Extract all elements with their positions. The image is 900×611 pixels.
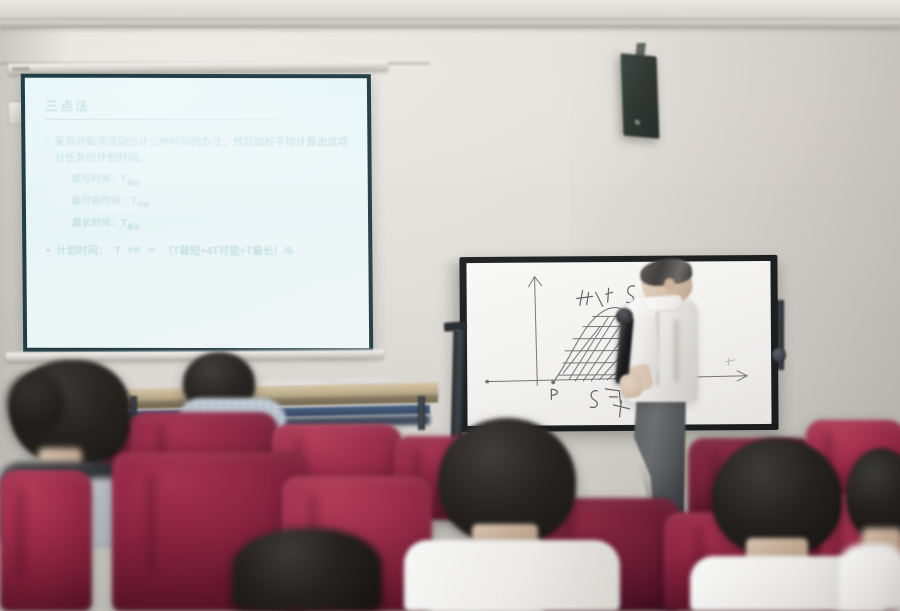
projection-screen-surface: 三点法 • 采用对每项活动估计三种时间的办法，然后加权平均计算出这项分任务的计划… bbox=[25, 78, 369, 349]
slide-sub-label: 最短时间： bbox=[72, 174, 121, 185]
audience-torso bbox=[404, 540, 620, 611]
lecture-hall-photo: 三点法 • 采用对每项活动估计三种时间的办法，然后加权平均计算出这项分任务的计划… bbox=[0, 0, 900, 611]
shirt-fold bbox=[674, 320, 679, 382]
presentation-slide: 三点法 • 采用对每项活动估计三种时间的办法，然后加权平均计算出这项分任务的计划… bbox=[25, 78, 369, 349]
loudspeaker-icon bbox=[621, 53, 660, 138]
bullet-dot-icon: • bbox=[46, 242, 50, 258]
slide-sub-subscript: 最短 bbox=[127, 180, 140, 187]
slide-sub-subscript: 可能 bbox=[137, 202, 150, 209]
slide-sub-item: 最短时间：T最短 bbox=[72, 172, 352, 191]
presenter-ear bbox=[664, 278, 675, 292]
slide-bullet: • 采用对每项活动估计三种时间的办法，然后加权平均计算出这项分任务的计划时间。 bbox=[45, 134, 351, 167]
slide-formula-lhs-subscript: 计划 bbox=[127, 243, 140, 259]
microphone-head-icon bbox=[615, 307, 633, 324]
slide-sub-item: 最长时间：T最长 bbox=[72, 216, 352, 235]
slide-formula: • 计划时间：T计划＝（T最短+4T可能+T最长）/6 bbox=[46, 242, 352, 259]
slide-bullet-text: 采用对每项活动估计三种时间的办法，然后加权平均计算出这项分任务的计划时间。 bbox=[54, 134, 351, 167]
slide-title: 三点法 bbox=[45, 96, 351, 116]
bullet-dot-icon: • bbox=[45, 134, 48, 166]
slide-sub-item: 最可能时间：T可能 bbox=[72, 194, 352, 213]
slide-formula-equals: ＝ bbox=[146, 243, 157, 259]
seat[interactable] bbox=[0, 470, 92, 611]
slide-formula-lead: 计划时间： bbox=[56, 242, 109, 258]
slide-sub-subscript: 最长 bbox=[127, 224, 140, 231]
slide-title-divider bbox=[45, 119, 345, 121]
whiteboard-stand-knob bbox=[772, 348, 786, 362]
audience-head bbox=[232, 528, 382, 611]
audience-torso bbox=[838, 544, 900, 611]
projection-screen: 三点法 • 采用对每项活动估计三种时间的办法，然后加权平均计算出这项分任务的计划… bbox=[21, 74, 373, 353]
slide-sub-label: 最长时间： bbox=[72, 218, 121, 229]
presenter-hand bbox=[618, 373, 643, 400]
desk-leg bbox=[418, 396, 425, 430]
slide-formula-lhs: T bbox=[114, 243, 121, 259]
ceiling-rail bbox=[0, 18, 900, 28]
slide-formula-expression: （T最短+4T可能+T最长）/6 bbox=[162, 243, 292, 259]
slide-sub-label: 最可能时间： bbox=[72, 196, 131, 207]
audience-hair-bun bbox=[8, 372, 64, 430]
